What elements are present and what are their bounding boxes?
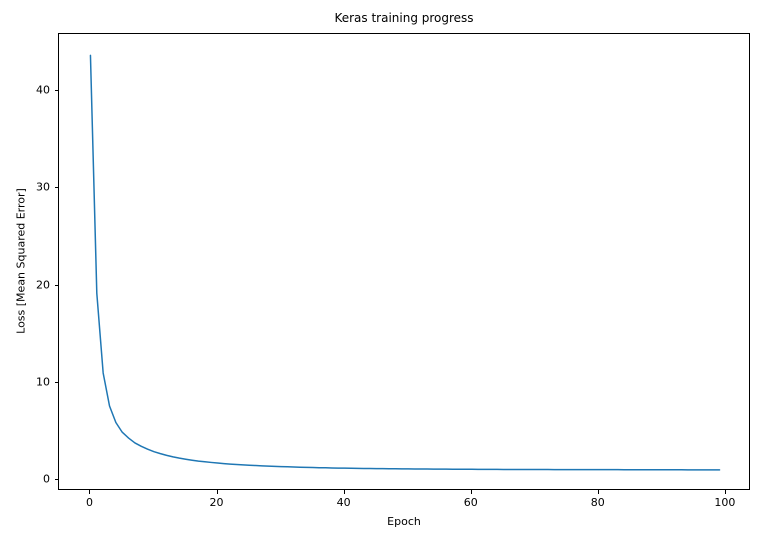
- x-tick-label: 40: [337, 496, 351, 509]
- x-tick-mark: [89, 490, 90, 494]
- loss-line-series: [90, 55, 719, 469]
- y-tick-mark: [55, 187, 59, 188]
- figure-canvas: Keras training progress Epoch Loss [Mean…: [0, 0, 764, 547]
- loss-curve-svg: [59, 34, 751, 491]
- chart-title: Keras training progress: [58, 11, 750, 25]
- y-axis-label: Loss [Mean Squared Error]: [15, 33, 29, 490]
- y-tick-mark: [55, 90, 59, 91]
- x-tick-label: 80: [591, 496, 605, 509]
- x-tick-mark: [598, 490, 599, 494]
- y-tick-mark: [55, 285, 59, 286]
- y-tick-label: 40: [36, 84, 50, 97]
- x-tick-label: 20: [210, 496, 224, 509]
- x-tick-label: 100: [714, 496, 735, 509]
- x-tick-mark: [344, 490, 345, 494]
- plot-area: [58, 33, 750, 490]
- y-tick-mark: [55, 479, 59, 480]
- y-tick-mark: [55, 382, 59, 383]
- y-tick-label: 30: [36, 181, 50, 194]
- x-axis-label: Epoch: [58, 515, 750, 528]
- x-tick-mark: [471, 490, 472, 494]
- x-tick-mark: [217, 490, 218, 494]
- y-tick-label: 0: [43, 472, 50, 485]
- x-tick-label: 60: [464, 496, 478, 509]
- x-tick-mark: [725, 490, 726, 494]
- x-tick-label: 0: [86, 496, 93, 509]
- y-tick-label: 10: [36, 375, 50, 388]
- y-tick-label: 20: [36, 278, 50, 291]
